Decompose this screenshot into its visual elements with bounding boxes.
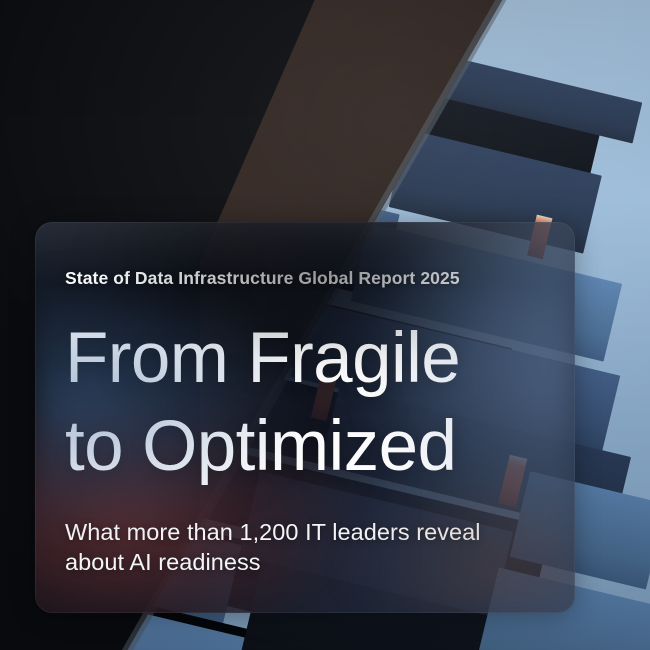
headline-line-2: to Optimized [65, 403, 549, 491]
headline-line-1: From Fragile [65, 315, 549, 403]
card-content: State of Data Infrastructure Global Repo… [65, 268, 549, 577]
page-subtitle: What more than 1,200 IT leaders reveal a… [65, 517, 549, 577]
glass-text-card: State of Data Infrastructure Global Repo… [35, 222, 575, 613]
report-eyebrow: State of Data Infrastructure Global Repo… [65, 268, 549, 289]
subtitle-line-1: What more than 1,200 IT leaders reveal [65, 517, 549, 547]
poster-canvas: State of Data Infrastructure Global Repo… [0, 0, 650, 650]
page-title: From Fragile to Optimized [65, 315, 549, 491]
subtitle-line-2: about AI readiness [65, 547, 549, 577]
